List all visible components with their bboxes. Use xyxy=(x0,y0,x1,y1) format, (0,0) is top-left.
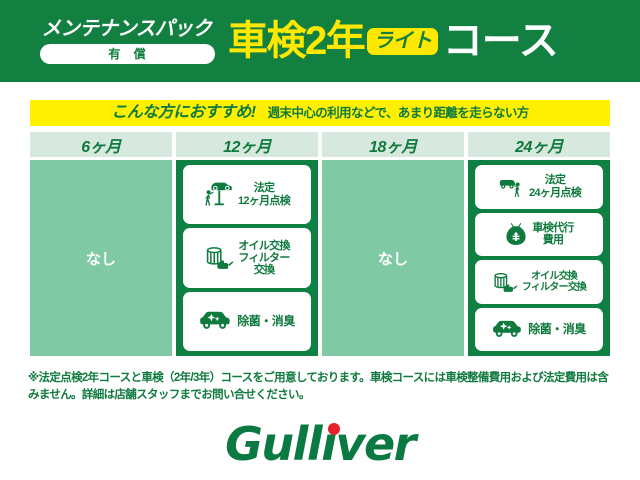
service-card[interactable]: オイル交換 フィルター 交換 xyxy=(183,228,311,287)
car-sparkle-icon xyxy=(199,310,233,332)
car-sparkle-icon xyxy=(492,319,524,340)
recommendation-detail: 週末中心の利用などで、あまり距離を走らない方 xyxy=(268,107,529,120)
column-heading: 12ヶ月 xyxy=(176,132,318,157)
no-service-label: なし xyxy=(378,248,408,269)
brand-logo: Gulliver xyxy=(0,408,640,480)
service-label: 法定 12ヶ月点検 xyxy=(238,182,290,207)
service-card[interactable]: 除菌・消臭 xyxy=(475,308,603,352)
money-bag-yen-icon xyxy=(504,221,528,247)
plan-comparison-table: 6ヶ月 なし 12ヶ月 xyxy=(30,132,610,356)
maintenance-pack-title: メンテナンスパック xyxy=(42,19,212,39)
service-card[interactable]: 法定 24ヶ月点検 xyxy=(475,165,603,209)
no-service-label: なし xyxy=(86,248,116,269)
service-card[interactable]: 法定 12ヶ月点検 xyxy=(183,165,311,224)
brand-logo-text: Gulliver xyxy=(225,421,415,467)
course-main-title: 車検2年 xyxy=(228,21,364,61)
maintenance-pack-block: メンテナンスパック 有 償 xyxy=(0,19,232,64)
column-body-services: 法定 12ヶ月点検 xyxy=(176,160,318,356)
service-label: オイル交換 フィルター 交換 xyxy=(238,240,290,277)
service-card[interactable]: オイル交換 フィルター交換 xyxy=(475,260,603,304)
column-body-services: 法定 24ヶ月点検 車検代行 費用 xyxy=(468,160,610,356)
service-label: 除菌・消臭 xyxy=(528,323,586,336)
car-lift-inspection-icon xyxy=(497,175,525,199)
plan-column-6months: 6ヶ月 なし xyxy=(30,132,172,356)
service-card[interactable]: 除菌・消臭 xyxy=(183,292,311,351)
service-card[interactable]: 車検代行 費用 xyxy=(475,213,603,257)
column-heading: 24ヶ月 xyxy=(468,132,610,157)
plan-column-12months: 12ヶ月 xyxy=(176,132,318,356)
oil-filter-change-icon xyxy=(204,244,234,271)
column-heading: 6ヶ月 xyxy=(30,132,172,157)
brand-logo-label: Gulliver xyxy=(225,417,415,471)
column-body-empty: なし xyxy=(322,160,464,356)
plan-column-18months: 18ヶ月 なし xyxy=(322,132,464,356)
car-lift-inspection-icon xyxy=(204,181,234,208)
service-label: オイル交換 フィルター交換 xyxy=(522,271,586,293)
course-title-block: 車検2年 ライト コース xyxy=(228,21,640,61)
column-heading: 18ヶ月 xyxy=(322,132,464,157)
service-label: 法定 24ヶ月点検 xyxy=(529,174,581,199)
column-body-empty: なし xyxy=(30,160,172,356)
oil-filter-change-icon xyxy=(492,270,518,294)
header-banner: メンテナンスパック 有 償 車検2年 ライト コース xyxy=(0,0,640,82)
service-label: 除菌・消臭 xyxy=(237,315,295,328)
recommendation-headline: こんな方におすすめ! xyxy=(111,105,255,121)
footnote-text: ※法定点検2年コースと車検（2年/3年）コースをご用意しております。車検コースに… xyxy=(28,370,614,403)
paid-badge: 有 償 xyxy=(40,44,215,64)
course-light-badge: ライト xyxy=(367,28,438,55)
course-suffix-title: コース xyxy=(443,21,558,61)
service-label: 車検代行 費用 xyxy=(532,222,573,247)
plan-column-24months: 24ヶ月 xyxy=(468,132,610,356)
recommendation-bar: こんな方におすすめ! 週末中心の利用などで、あまり距離を走らない方 xyxy=(30,100,610,126)
